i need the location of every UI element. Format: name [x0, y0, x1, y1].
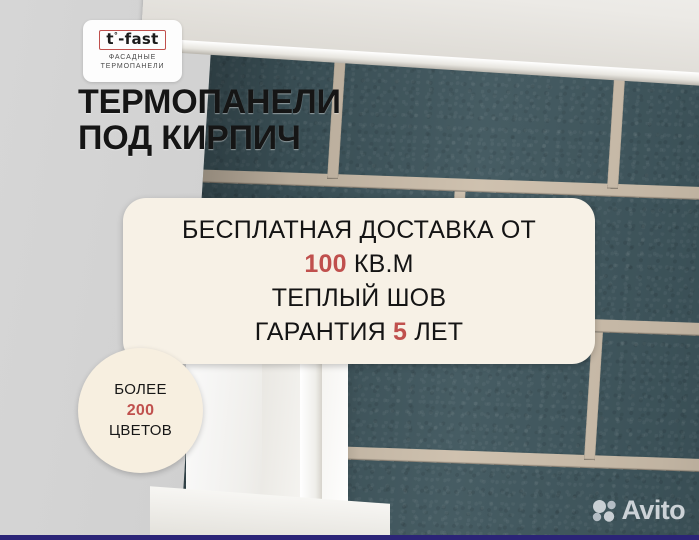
- offer-line-warranty: ГАРАНТИЯ 5 ЛЕТ: [255, 316, 464, 348]
- bottom-accent-bar: [0, 535, 699, 540]
- offer-warranty-value: 5: [393, 318, 407, 346]
- offer-warranty-prefix: ГАРАНТИЯ: [255, 318, 386, 346]
- avito-dots-icon: [592, 500, 617, 522]
- offer-line-delivery: БЕСПЛАТНАЯ ДОСТАВКА ОТ: [182, 214, 536, 246]
- colors-badge-line1: БОЛЕЕ: [114, 381, 167, 400]
- brand-logo-subtitle-line2: ТЕРМОПАНЕЛИ: [101, 63, 165, 72]
- advertisement-image: t°-fast ФАСАДНЫЕ ТЕРМОПАНЕЛИ ТЕРМОПАНЕЛИ…: [0, 0, 699, 540]
- brand-logo-subtitle-line1: ФАСАДНЫЕ: [101, 54, 165, 63]
- offer-line-area: 100 КВ.М: [304, 248, 413, 280]
- brand-logo-suffix: -fast: [118, 30, 158, 48]
- offer-warranty-suffix: ЛЕТ: [414, 318, 463, 346]
- page-title: ТЕРМОПАНЕЛИ ПОД КИРПИЧ: [78, 84, 341, 157]
- avito-wordmark: Avito: [622, 497, 686, 524]
- brand-logo-mark: t°-fast: [99, 30, 165, 51]
- brand-logo-subtitle: ФАСАДНЫЕ ТЕРМОПАНЕЛИ: [101, 54, 165, 72]
- offer-area-value: 100: [304, 250, 346, 278]
- brand-logo-letter: t: [106, 30, 113, 48]
- brand-logo-card: t°-fast ФАСАДНЫЕ ТЕРМОПАНЕЛИ: [83, 20, 182, 82]
- avito-watermark: Avito: [592, 497, 686, 524]
- offer-info-card: БЕСПЛАТНАЯ ДОСТАВКА ОТ 100 КВ.М ТЕПЛЫЙ Ш…: [123, 198, 595, 364]
- colors-badge-value: 200: [127, 401, 155, 421]
- offer-line-warm-seam: ТЕПЛЫЙ ШОВ: [272, 282, 446, 314]
- colors-badge-line3: ЦВЕТОВ: [109, 422, 172, 441]
- colors-badge: БОЛЕЕ 200 ЦВЕТОВ: [78, 348, 203, 473]
- offer-area-unit: КВ.М: [354, 250, 414, 278]
